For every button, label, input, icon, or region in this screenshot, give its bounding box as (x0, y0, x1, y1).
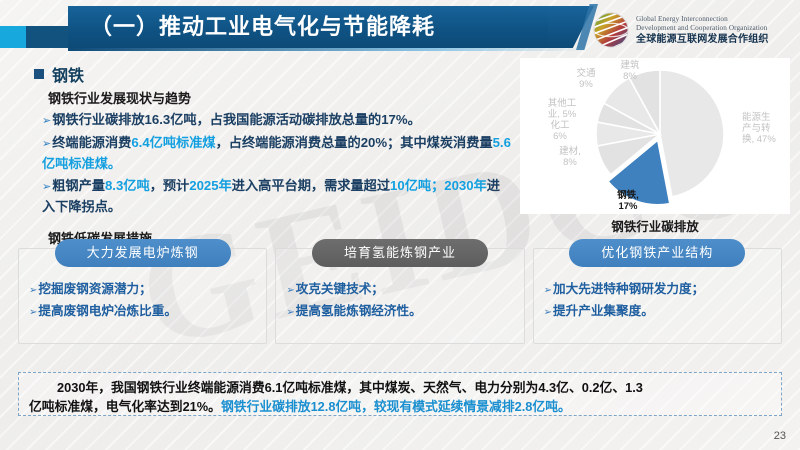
measure-list-item-label: 提高氢能炼钢经济性。 (296, 304, 422, 318)
slide-root: GEIDCO （一）推动工业电气化与节能降耗 (0, 0, 800, 450)
measure-card-list: ➢攻克关键技术；➢提高氢能炼钢经济性。 (286, 279, 517, 323)
header-underline (68, 48, 588, 51)
section-heading-label: 钢铁 (52, 62, 84, 86)
bullet-text-run: ；其中煤炭消费量 (387, 135, 493, 150)
arrow-bullet-icon: ➢ (286, 307, 294, 318)
pie-slice-label: 钢铁,17% (617, 189, 639, 212)
page-title: （一）推动工业电气化与节能降耗 (90, 9, 560, 45)
logo-chinese-line: 全球能源互联网发展合作组织 (636, 33, 769, 46)
bullet-text-run: 20% (361, 135, 387, 150)
bullet-item: ➢终端能源消费6.4亿吨标准煤，占终端能源消费总量的20%；其中煤炭消费量5.6… (42, 133, 512, 174)
logo-text-block: Global Energy Interconnection Developmen… (636, 15, 769, 46)
measure-card: 培育氢能炼钢产业➢攻克关键技术；➢提高氢能炼钢经济性。 (275, 248, 524, 344)
bullet-text-run: 6.4亿吨标准煤 (131, 135, 215, 150)
bullet-text-run: ，预计 (150, 178, 190, 193)
pie-chart-caption: 钢铁行业碳排放 (520, 216, 790, 235)
pie-slice-label: 化工6% (550, 119, 570, 142)
bullet-text-run: 进入高平台期，需求量超过 (232, 178, 390, 193)
pie-slice-label: 建材,8% (559, 145, 581, 168)
measure-list-item: ➢挖掘废钢资源潜力； (29, 279, 260, 301)
globe-icon (592, 11, 630, 49)
pie-chart-panel: 能源生产与转换, 47%钢铁,17%建材,8%化工6%其他工业, 5%交通9%建… (520, 58, 790, 214)
logo-english-line-2: Development and Cooperation Organization (636, 24, 769, 33)
measure-list-item: ➢提升产业集聚度。 (544, 301, 775, 323)
measure-list-item-label: 挖掘废钢资源潜力； (38, 282, 151, 296)
arrow-bullet-icon: ➢ (42, 115, 51, 127)
measure-list-item: ➢加大先进特种钢研发力度； (544, 279, 775, 301)
bullet-text-run: 2025年 (189, 178, 232, 193)
summary-line-2-highlight: 钢铁行业碳排放12.8亿吨，较现有模式延续情景减排2.8亿吨。 (221, 399, 571, 414)
pie-slice-label: 能源生产与转换, 47% (742, 111, 776, 145)
measure-card-title-pill[interactable]: 优化钢铁产业结构 (569, 239, 745, 267)
bullet-item: ➢粗钢产量8.3亿吨，预计2025年进入高平台期，需求量超过10亿吨；2030年… (42, 176, 512, 217)
section-heading: 钢铁 (34, 62, 84, 86)
measure-list-item: ➢攻克关键技术； (286, 279, 517, 301)
summary-callout-box: 2030年，我国钢铁行业终端能源消费6.1亿吨标准煤，其中煤炭、天然气、电力分别… (18, 372, 782, 416)
arrow-bullet-icon: ➢ (29, 285, 37, 296)
arrow-bullet-icon: ➢ (29, 307, 37, 318)
bullet-text-run: 8.3亿吨 (105, 178, 150, 193)
arrow-bullet-icon: ➢ (286, 285, 294, 296)
page-number: 23 (774, 430, 786, 442)
square-bullet-icon (34, 69, 44, 79)
status-bullet-list: ➢钢铁行业碳排放16.3亿吨，占我国能源活动碳排放总量的17%。➢终端能源消费6… (42, 110, 512, 219)
arrow-bullet-icon: ➢ (42, 138, 51, 150)
measure-list-item: ➢提高氢能炼钢经济性。 (286, 301, 517, 323)
bullet-text-run: ，占终端能源消费总量的 (216, 135, 361, 150)
bullet-text-run: 10亿吨； (390, 178, 444, 193)
header-accent-blue-block (26, 26, 68, 48)
bullet-text-run: 钢铁行业碳排放16.3亿吨，占我国能源活动碳排放总量的17%。 (52, 112, 421, 127)
measure-list-item-label: 攻克关键技术； (296, 282, 384, 296)
measure-list-item: ➢提高废钢电炉冶炼比重。 (29, 301, 260, 323)
measure-card-list: ➢加大先进特种钢研发力度；➢提升产业集聚度。 (544, 279, 775, 323)
arrow-bullet-icon: ➢ (42, 181, 51, 193)
bullet-text-run: 粗钢产量 (52, 178, 105, 193)
measure-list-item-label: 提升产业集聚度。 (553, 304, 654, 318)
measure-card: 大力发展电炉炼钢➢挖掘废钢资源潜力；➢提高废钢电炉冶炼比重。 (18, 248, 267, 344)
bullet-text-run: 终端能源消费 (52, 135, 131, 150)
measure-list-item-label: 提高废钢电炉冶炼比重。 (38, 304, 177, 318)
summary-line-2: 亿吨标准煤，电气化率达到21%。钢铁行业碳排放12.8亿吨，较现有模式延续情景减… (29, 397, 771, 416)
summary-line-2-plain: 亿吨标准煤，电气化率达到21%。 (29, 399, 221, 414)
arrow-bullet-icon: ➢ (544, 285, 552, 296)
measure-card-title-pill[interactable]: 大力发展电炉炼钢 (55, 239, 231, 267)
logo-english-line-1: Global Energy Interconnection (636, 15, 769, 24)
carbon-emission-pie-chart: 能源生产与转换, 47%钢铁,17%建材,8%化工6%其他工业, 5%交通9%建… (520, 58, 790, 214)
summary-line-1: 2030年，我国钢铁行业终端能源消费6.1亿吨标准煤，其中煤炭、天然气、电力分别… (29, 378, 771, 397)
measures-card-group: 大力发展电炉炼钢➢挖掘废钢资源潜力；➢提高废钢电炉冶炼比重。培育氢能炼钢产业➢攻… (18, 248, 782, 344)
pie-slice-label: 其他工业, 5% (548, 97, 577, 120)
organization-logo: Global Energy Interconnection Developmen… (592, 8, 798, 52)
measure-card: 优化钢铁产业结构➢加大先进特种钢研发力度；➢提升产业集聚度。 (533, 248, 782, 344)
pie-slice-label: 交通9% (576, 67, 596, 90)
bullet-item: ➢钢铁行业碳排放16.3亿吨，占我国能源活动碳排放总量的17%。 (42, 110, 512, 131)
measure-list-item-label: 加大先进特种钢研发力度； (553, 282, 704, 296)
pie-slice (660, 70, 724, 197)
arrow-bullet-icon: ➢ (544, 307, 552, 318)
slide-header: （一）推动工业电气化与节能降耗 (0, 0, 800, 62)
measure-card-list: ➢挖掘废钢资源潜力；➢提高废钢电炉冶炼比重。 (29, 279, 260, 323)
measure-card-title-pill[interactable]: 培育氢能炼钢产业 (312, 239, 488, 267)
subsection-heading: 钢铁行业发展现状与趋势 (48, 88, 191, 107)
bullet-text-run: 2030年 (444, 178, 487, 193)
header-accent-cyan-block (0, 26, 26, 48)
